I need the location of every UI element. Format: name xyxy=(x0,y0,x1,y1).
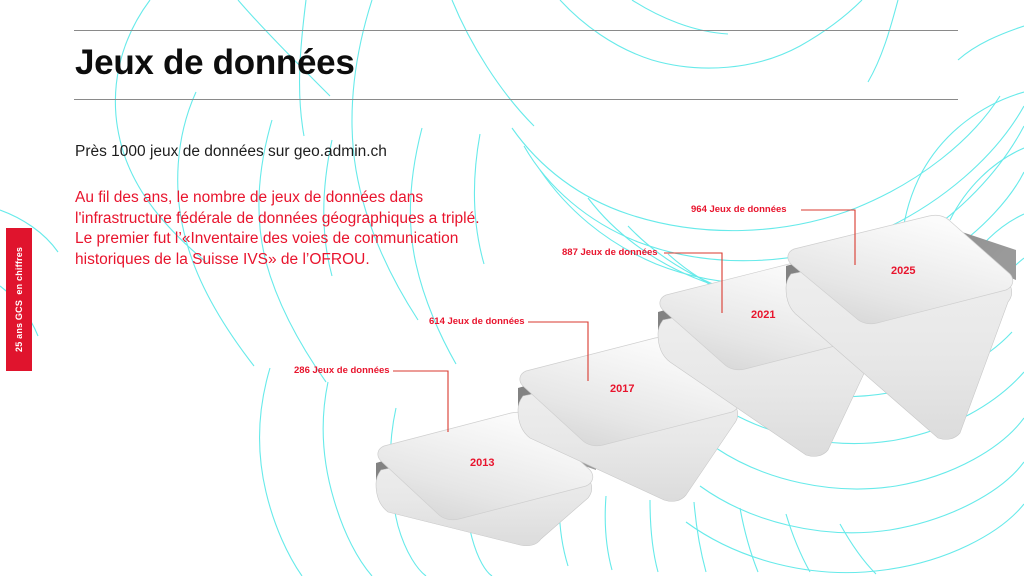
callout-label-2021: 887 Jeux de données xyxy=(562,247,658,258)
left-rail: Jeux de données 25 ans GCS en chiffres xyxy=(0,0,64,576)
rail-brand-box: 25 ans GCS en chiffres xyxy=(6,228,32,371)
header-rule-top xyxy=(74,30,958,31)
slide-header: Jeux de données xyxy=(74,30,958,100)
slide-root: Jeux de données 25 ans GCS en chiffres J… xyxy=(0,0,1024,576)
step-block-2013 xyxy=(376,412,596,546)
callout-label-2017: 614 Jeux de données xyxy=(429,316,525,327)
header-rule-bottom xyxy=(74,99,958,100)
year-label-2025: 2025 xyxy=(891,265,915,277)
rail-brand-label: 25 ans GCS en chiffres xyxy=(6,228,32,371)
step-block-2025 xyxy=(786,215,1016,439)
lead-paragraph: Près 1000 jeux de données sur geo.admin.… xyxy=(75,142,535,162)
year-label-2013: 2013 xyxy=(470,457,494,469)
step-block-2017 xyxy=(518,337,742,501)
year-label-2021: 2021 xyxy=(751,309,775,321)
callout-label-2013: 286 Jeux de données xyxy=(294,365,390,376)
callout-label-2025: 964 Jeux de données xyxy=(691,204,787,215)
year-label-2017: 2017 xyxy=(610,383,634,395)
highlight-paragraph: Au fil des ans, le nombre de jeux de don… xyxy=(75,188,495,270)
page-title: Jeux de données xyxy=(75,42,958,83)
header-rule-bottom-wrap xyxy=(74,99,958,100)
step-block-2021 xyxy=(658,261,884,456)
